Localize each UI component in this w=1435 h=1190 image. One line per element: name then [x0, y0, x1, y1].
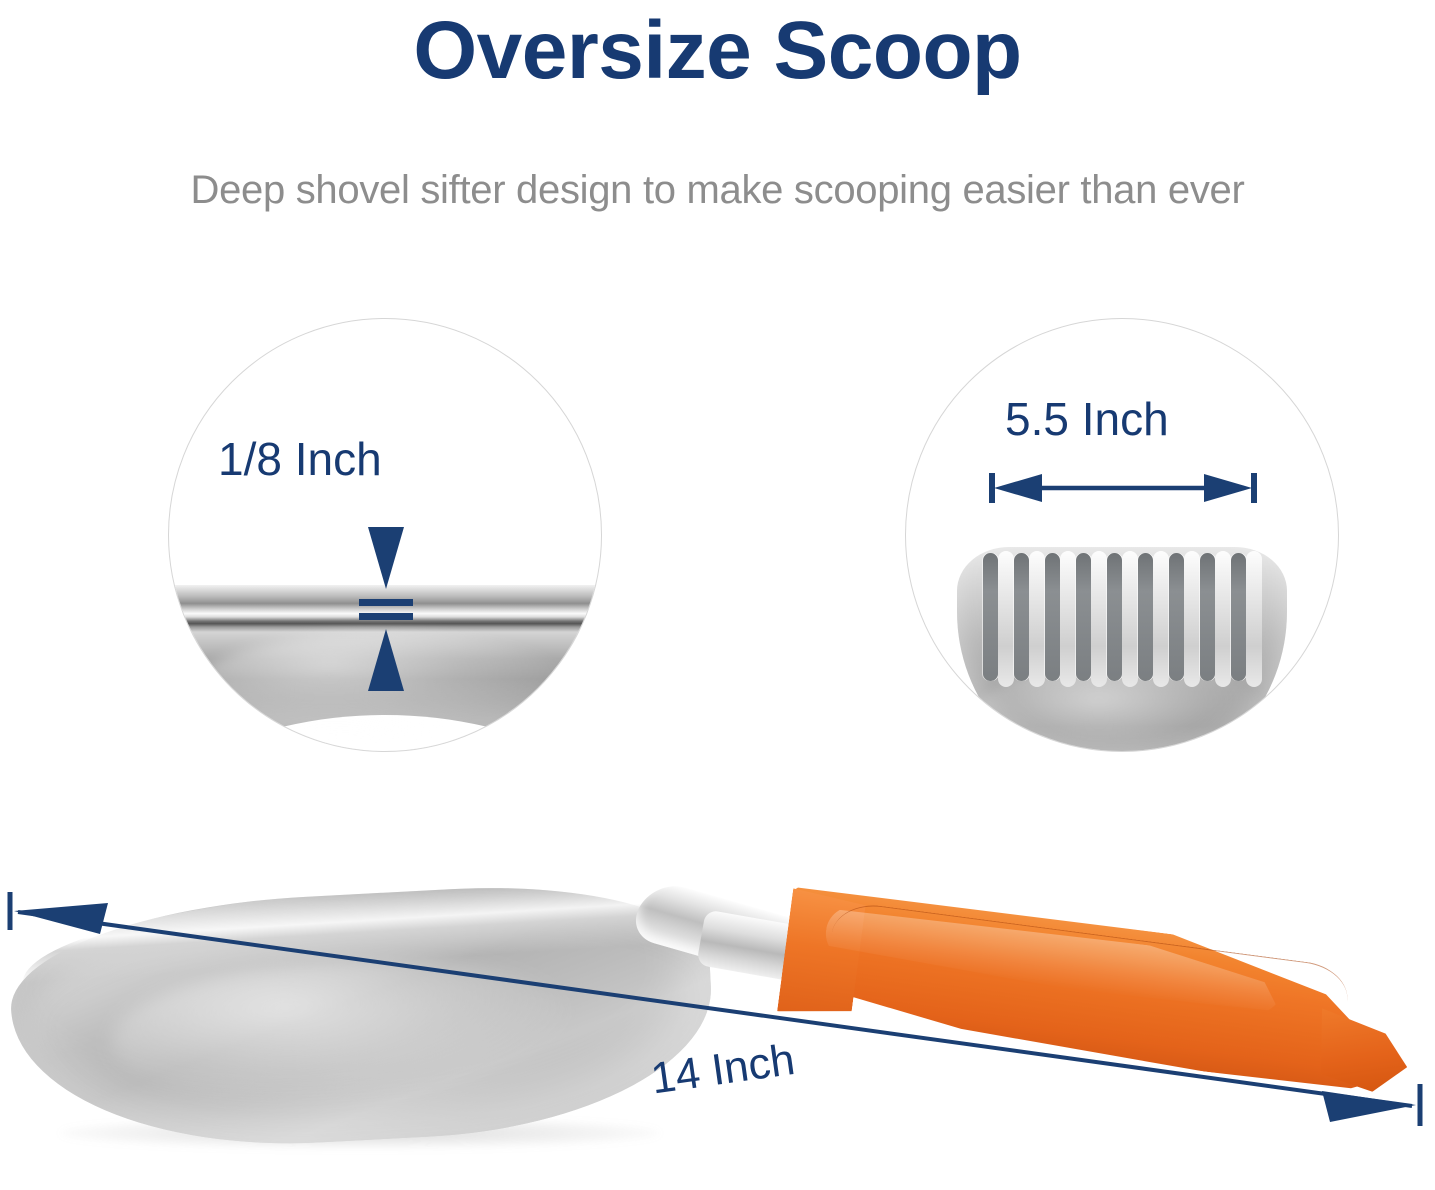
triangle-up-icon [368, 629, 404, 691]
thickness-dimension-label: 1/8 Inch [218, 432, 382, 486]
sifter-rib [1184, 551, 1200, 687]
page-title: Oversize Scoop [0, 8, 1435, 94]
triangle-down-icon [368, 527, 404, 589]
infographic-page: Oversize Scoop Deep shovel sifter design… [0, 0, 1435, 1190]
sifter-slot [983, 553, 998, 681]
caliper-thickness-marker-icon [368, 527, 404, 691]
page-subtitle: Deep shovel sifter design to make scoopi… [0, 168, 1435, 213]
width-dimension-label: 5.5 Inch [1005, 392, 1169, 446]
sifter-rib [1215, 551, 1231, 687]
sifter-body [957, 547, 1287, 752]
slotted-sifter-scoop-front-image [957, 547, 1287, 752]
sifter-slot [1076, 553, 1091, 681]
sifter-slot [1200, 553, 1215, 681]
sifter-slot [1138, 553, 1153, 681]
sifter-slot [1231, 553, 1246, 681]
double-headed-dimension-arrow-icon [988, 471, 1258, 505]
sifter-rib [1246, 551, 1262, 687]
scoop-thickness-callout [168, 318, 602, 752]
sifter-rib [998, 551, 1014, 687]
circle-bottom-mask [168, 715, 602, 752]
sifter-slot [1107, 553, 1122, 681]
sifter-rib [1122, 551, 1138, 687]
overall-length-dimension [0, 848, 1435, 1190]
caliper-bar-lower [359, 613, 413, 620]
sifter-rib [1029, 551, 1045, 687]
sifter-rib [1091, 551, 1107, 687]
sifter-slot [1045, 553, 1060, 681]
sifter-slot [1169, 553, 1184, 681]
sifter-rib [1060, 551, 1076, 687]
caliper-bar-upper [359, 599, 413, 606]
sifter-rib [1153, 551, 1169, 687]
sifter-slot [1014, 553, 1029, 681]
scoop-width-callout [905, 318, 1339, 752]
